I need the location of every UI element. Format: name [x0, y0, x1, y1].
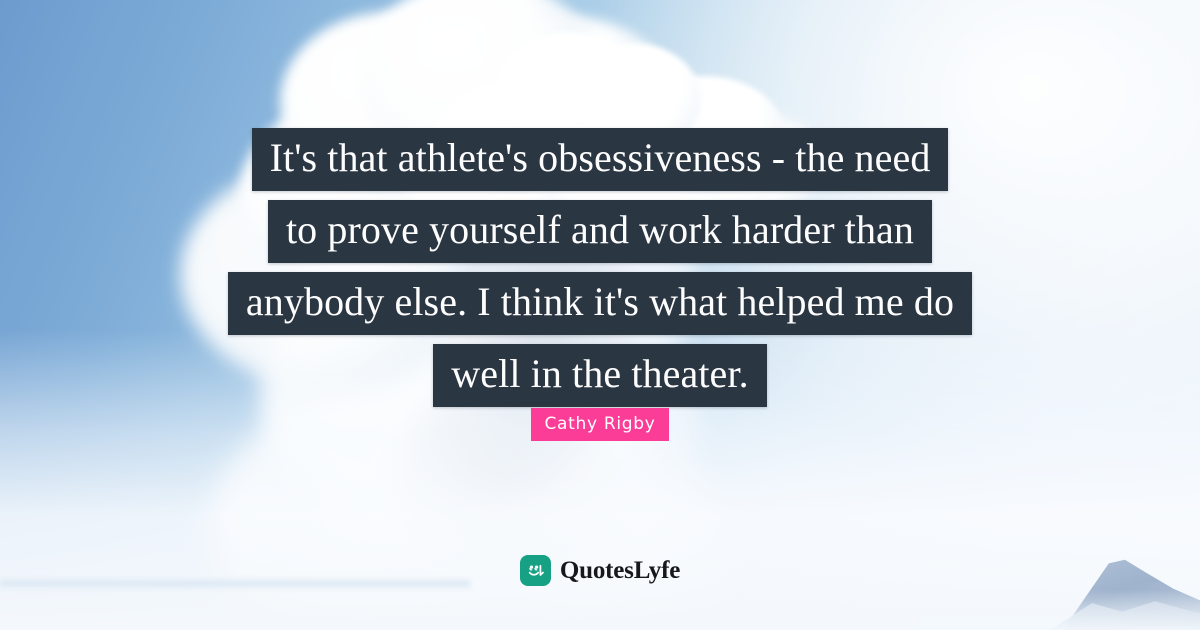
quote-smiley-icon — [520, 555, 551, 586]
brand-logo[interactable]: QuotesLyfe — [0, 555, 1200, 586]
quote-line: well in the theater. — [433, 344, 766, 407]
quote-line: anybody else. I think it's what helped m… — [228, 272, 972, 335]
author-attribution: Cathy Rigby — [0, 408, 1200, 441]
mountain-mist — [920, 590, 1200, 630]
quote-block: It's that athlete's obsessiveness - the … — [0, 128, 1200, 407]
quote-line: to prove yourself and work harder than — [268, 200, 932, 263]
quote-line: It's that athlete's obsessiveness - the … — [252, 128, 949, 191]
author-name-badge[interactable]: Cathy Rigby — [531, 408, 668, 441]
brand-name: QuotesLyfe — [560, 557, 680, 585]
